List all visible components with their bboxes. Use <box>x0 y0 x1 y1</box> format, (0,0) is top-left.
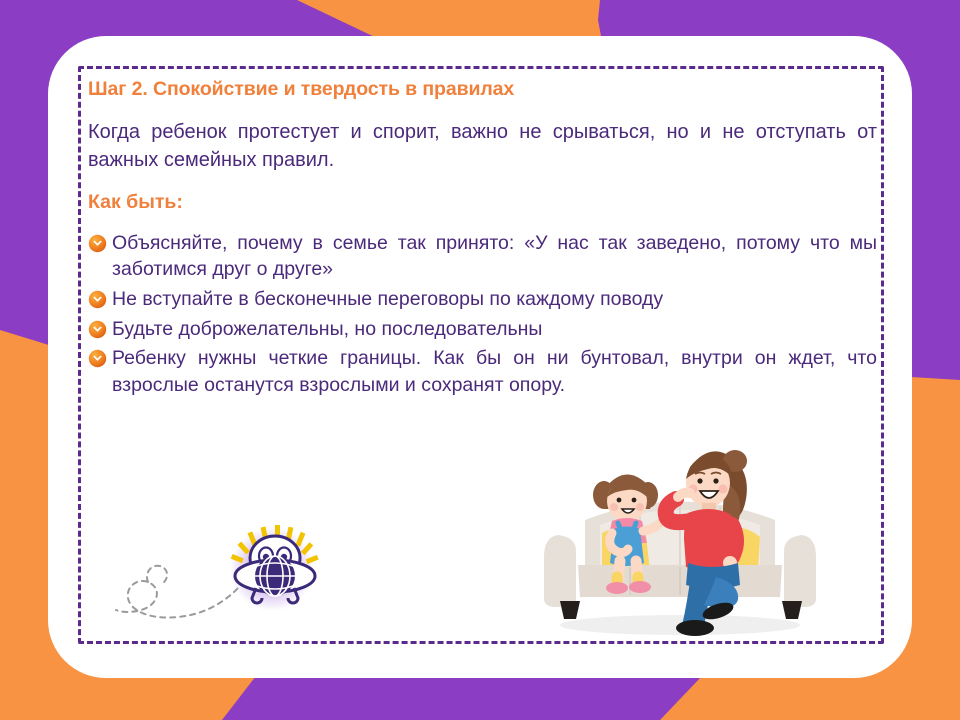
chevron-down-circle-icon <box>88 349 107 368</box>
mother-arm-right <box>732 525 736 557</box>
list-item: Будьте доброжелательны, но последователь… <box>88 316 877 343</box>
mother-and-daughter-on-sofa-illustration <box>530 425 830 640</box>
list-item: Не вступайте в бесконечные переговоры по… <box>88 286 877 313</box>
daughter-cheek-right <box>636 503 644 511</box>
list-item-label: Будьте доброжелательны, но последователь… <box>112 318 542 340</box>
daughter-shoe-left <box>606 582 628 594</box>
daughter-shoe-right <box>629 581 651 593</box>
list-item: Ребенку нужны четкие границы. Как бы он … <box>88 345 877 398</box>
list-item-label: Ребенку нужны четкие границы. Как бы он … <box>112 347 877 396</box>
sofa-leg-left <box>560 601 580 619</box>
chevron-down-circle-icon <box>88 234 107 253</box>
background-purple-bottom-trapezoid <box>222 676 702 720</box>
daughter-eye-right <box>632 498 637 503</box>
ufo-globe-logo-icon <box>100 518 340 633</box>
logo-globe <box>255 556 295 596</box>
mother-eye-right <box>713 478 718 483</box>
mother-shoe-left <box>676 620 714 636</box>
tips-list: Объясняйте, почему в семье так принято: … <box>88 230 877 398</box>
brand-logo <box>100 518 340 633</box>
list-item-label: Не вступайте в бесконечные переговоры по… <box>112 288 663 310</box>
sofa-leg-right <box>782 601 802 619</box>
daughter-eye-left <box>617 498 622 503</box>
sofa-armrest-left <box>544 535 576 607</box>
subheading: Как быть: <box>88 191 878 214</box>
slide-content: Шаг 2. Спокойствие и твердость в правила… <box>88 78 878 401</box>
list-item: Объясняйте, почему в семье так принято: … <box>88 230 877 283</box>
dashed-heart-trail-icon <box>116 566 250 618</box>
mother-cheek-right <box>719 485 728 494</box>
intro-paragraph: Когда ребенок протестует и спорит, важно… <box>88 119 877 174</box>
mother-hand-at-head <box>678 493 690 498</box>
mother-eye-left <box>697 478 702 483</box>
daughter-cheek-left <box>610 503 618 511</box>
page-title: Шаг 2. Спокойствие и твердость в правила… <box>88 78 878 101</box>
list-item-label: Объясняйте, почему в семье так принято: … <box>112 232 877 281</box>
chevron-down-circle-icon <box>88 290 107 309</box>
chevron-down-circle-icon <box>88 320 107 339</box>
sofa-armrest-right <box>784 535 816 607</box>
